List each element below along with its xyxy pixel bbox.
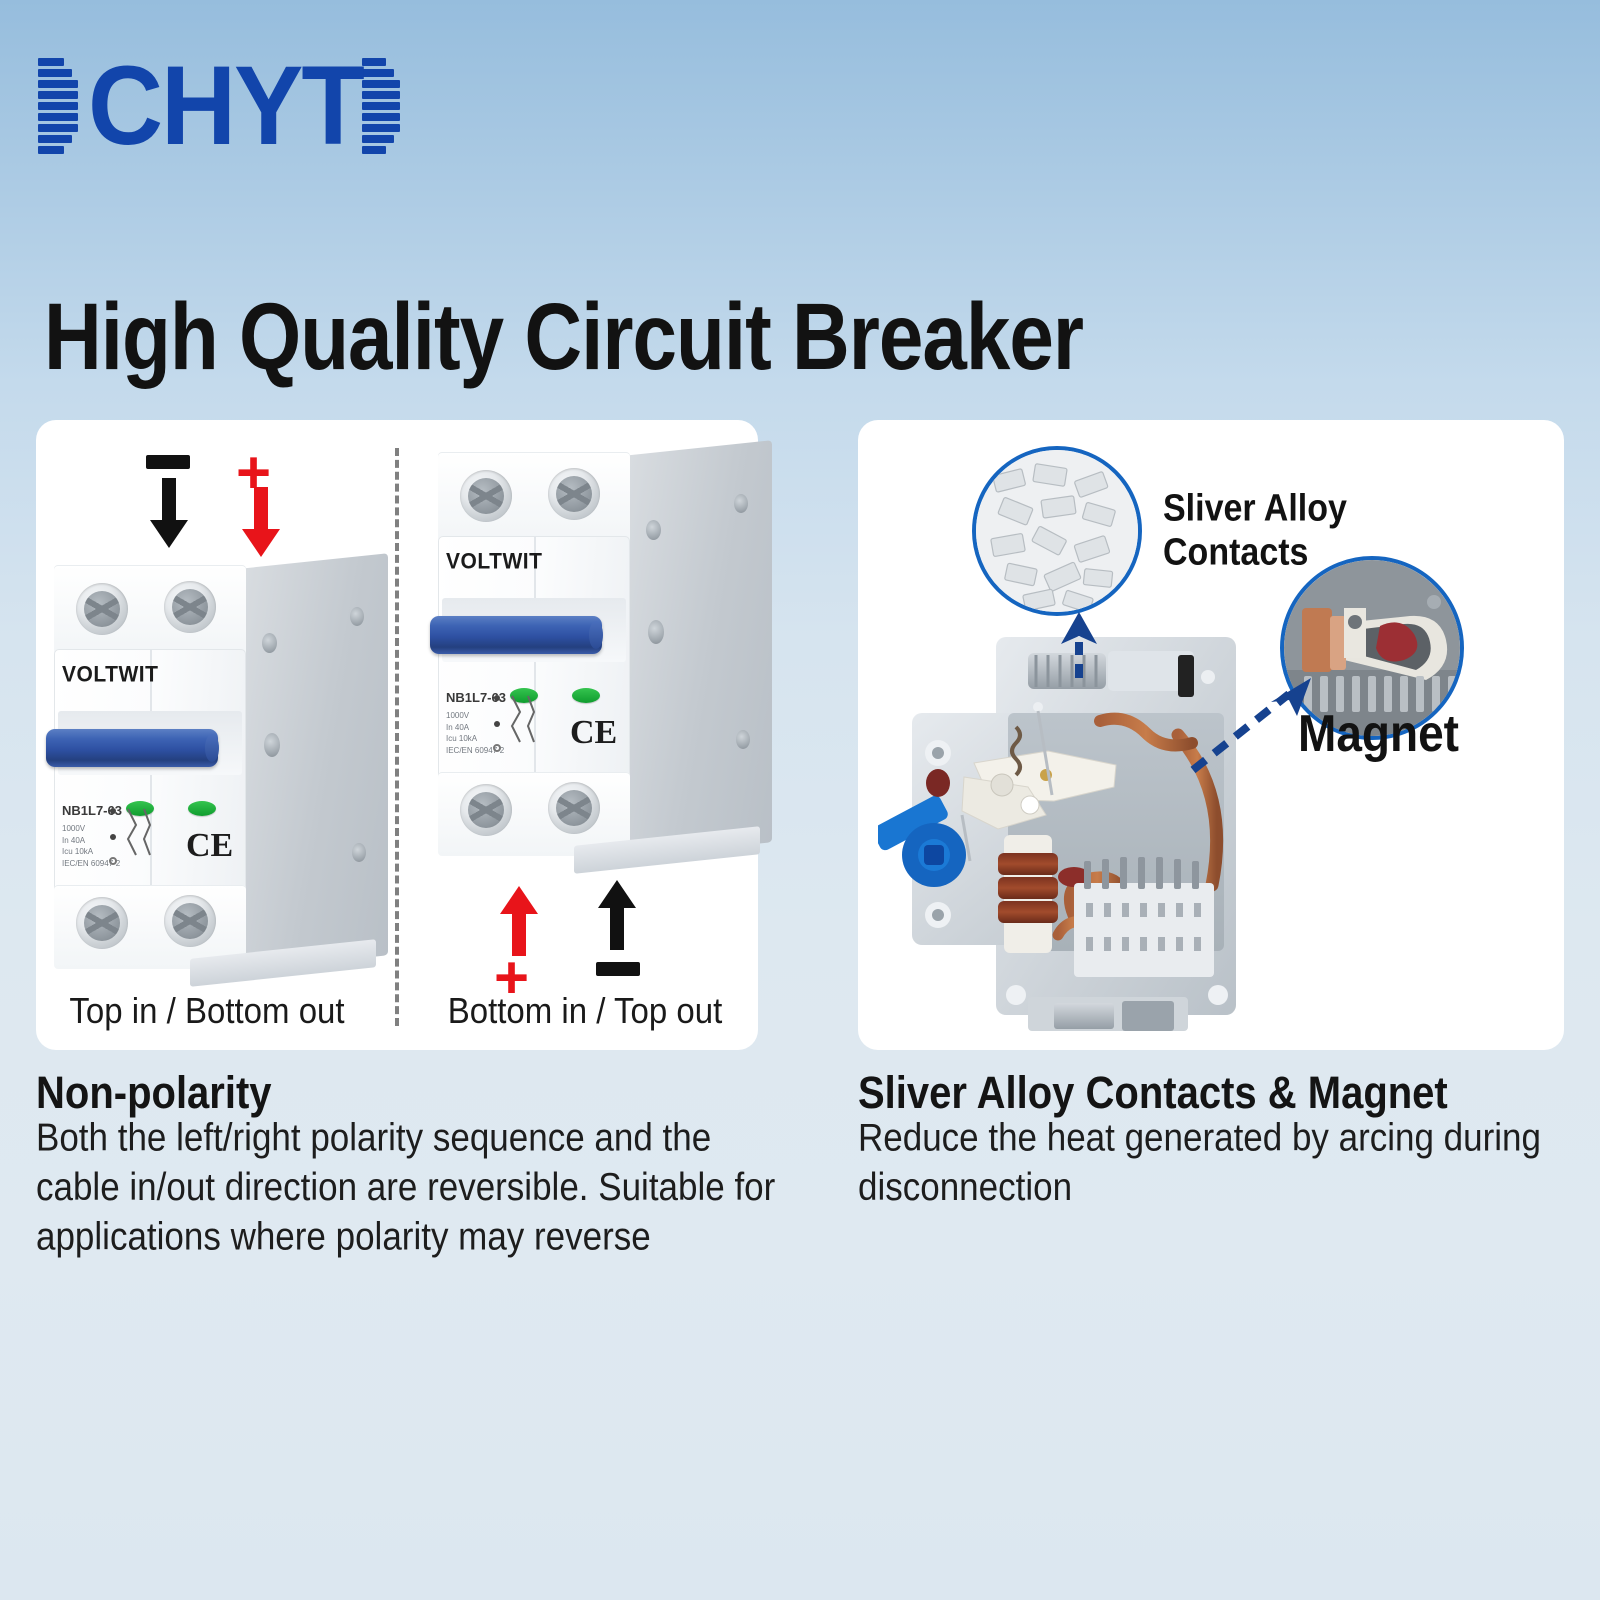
- terminal-screw-b3: [468, 792, 504, 828]
- ce-mark-a: CE: [186, 827, 233, 865]
- breaker-brand-a: VOLTWIT: [62, 662, 158, 687]
- breaker-brand-b: VOLTWIT: [446, 549, 542, 574]
- down-arrow-black-a: [148, 478, 190, 550]
- wiring-diagram-a: [108, 803, 154, 873]
- silver-alloy-contacts-label: Sliver Alloy Contacts: [1163, 487, 1347, 575]
- caption-bottom-in-top-out: Bottom in / Top out: [420, 990, 750, 1032]
- status-led-b2: [572, 688, 600, 703]
- panel-divider: [395, 448, 399, 1026]
- side-screw-b3: [734, 494, 748, 513]
- breaker-handle-a[interactable]: [46, 729, 218, 767]
- feature-title-non-polarity: Non-polarity: [36, 1068, 272, 1119]
- feature-body-contacts-magnet: Reduce the heat generated by arcing duri…: [858, 1114, 1548, 1213]
- breaker-handle-b[interactable]: [430, 616, 602, 654]
- terminal-screw-a3: [84, 905, 120, 941]
- negative-sign-top-left: [146, 455, 190, 469]
- side-screw-b2: [648, 620, 664, 644]
- breaker-side-body-b: [624, 440, 772, 858]
- feature-body-non-polarity: Both the left/right polarity sequence an…: [36, 1114, 786, 1262]
- feature-title-contacts-magnet: Sliver Alloy Contacts & Magnet: [858, 1068, 1448, 1119]
- terminal-screw-a2: [172, 589, 208, 625]
- caption-top-in-bottom-out: Top in / Bottom out: [42, 990, 372, 1032]
- side-screw-b4: [736, 730, 750, 749]
- ce-mark-b: CE: [570, 714, 617, 752]
- breaker-unit-top-in: VOLTWIT NB1L7-63 1000V In 40A Icu 10kA I…: [40, 545, 380, 975]
- page-title: High Quality Circuit Breaker: [44, 283, 1344, 392]
- logo-wordmark: CHYT: [88, 52, 363, 160]
- terminal-screw-b2: [556, 476, 592, 512]
- silver-alloy-contacts-circle: [972, 446, 1142, 616]
- side-screw-a3: [350, 607, 364, 626]
- side-screw-a2: [264, 733, 280, 757]
- wiring-diagram-b: [492, 690, 538, 760]
- silver-alloy-contacts-photo: [976, 450, 1142, 616]
- terminal-screw-a4: [172, 903, 208, 939]
- breaker-side-body-a: [240, 553, 388, 971]
- contacts-label-line2: Contacts: [1163, 531, 1347, 575]
- side-screw-b1: [646, 520, 661, 540]
- negative-sign-bottom-b: [596, 962, 640, 976]
- side-screw-a1: [262, 633, 277, 653]
- breaker-unit-bottom-in: VOLTWIT NB1L7-63 1000V In 40A Icu 10kA I…: [424, 432, 764, 862]
- logo-bars-right-icon: [362, 58, 400, 154]
- contacts-label-line1: Sliver Alloy: [1163, 487, 1347, 531]
- logo-bars-left-icon: [38, 58, 78, 154]
- terminal-screw-b1: [468, 478, 504, 514]
- up-arrow-black-b: [596, 878, 638, 950]
- status-led-a2: [188, 801, 216, 816]
- magnet-label: Magnet: [1298, 704, 1459, 763]
- terminal-screw-a1: [84, 591, 120, 627]
- brand-logo: CHYT: [38, 52, 400, 160]
- side-screw-a4: [352, 843, 366, 862]
- contacts-pointer-arrow: [1055, 612, 1105, 688]
- terminal-screw-b4: [556, 790, 592, 826]
